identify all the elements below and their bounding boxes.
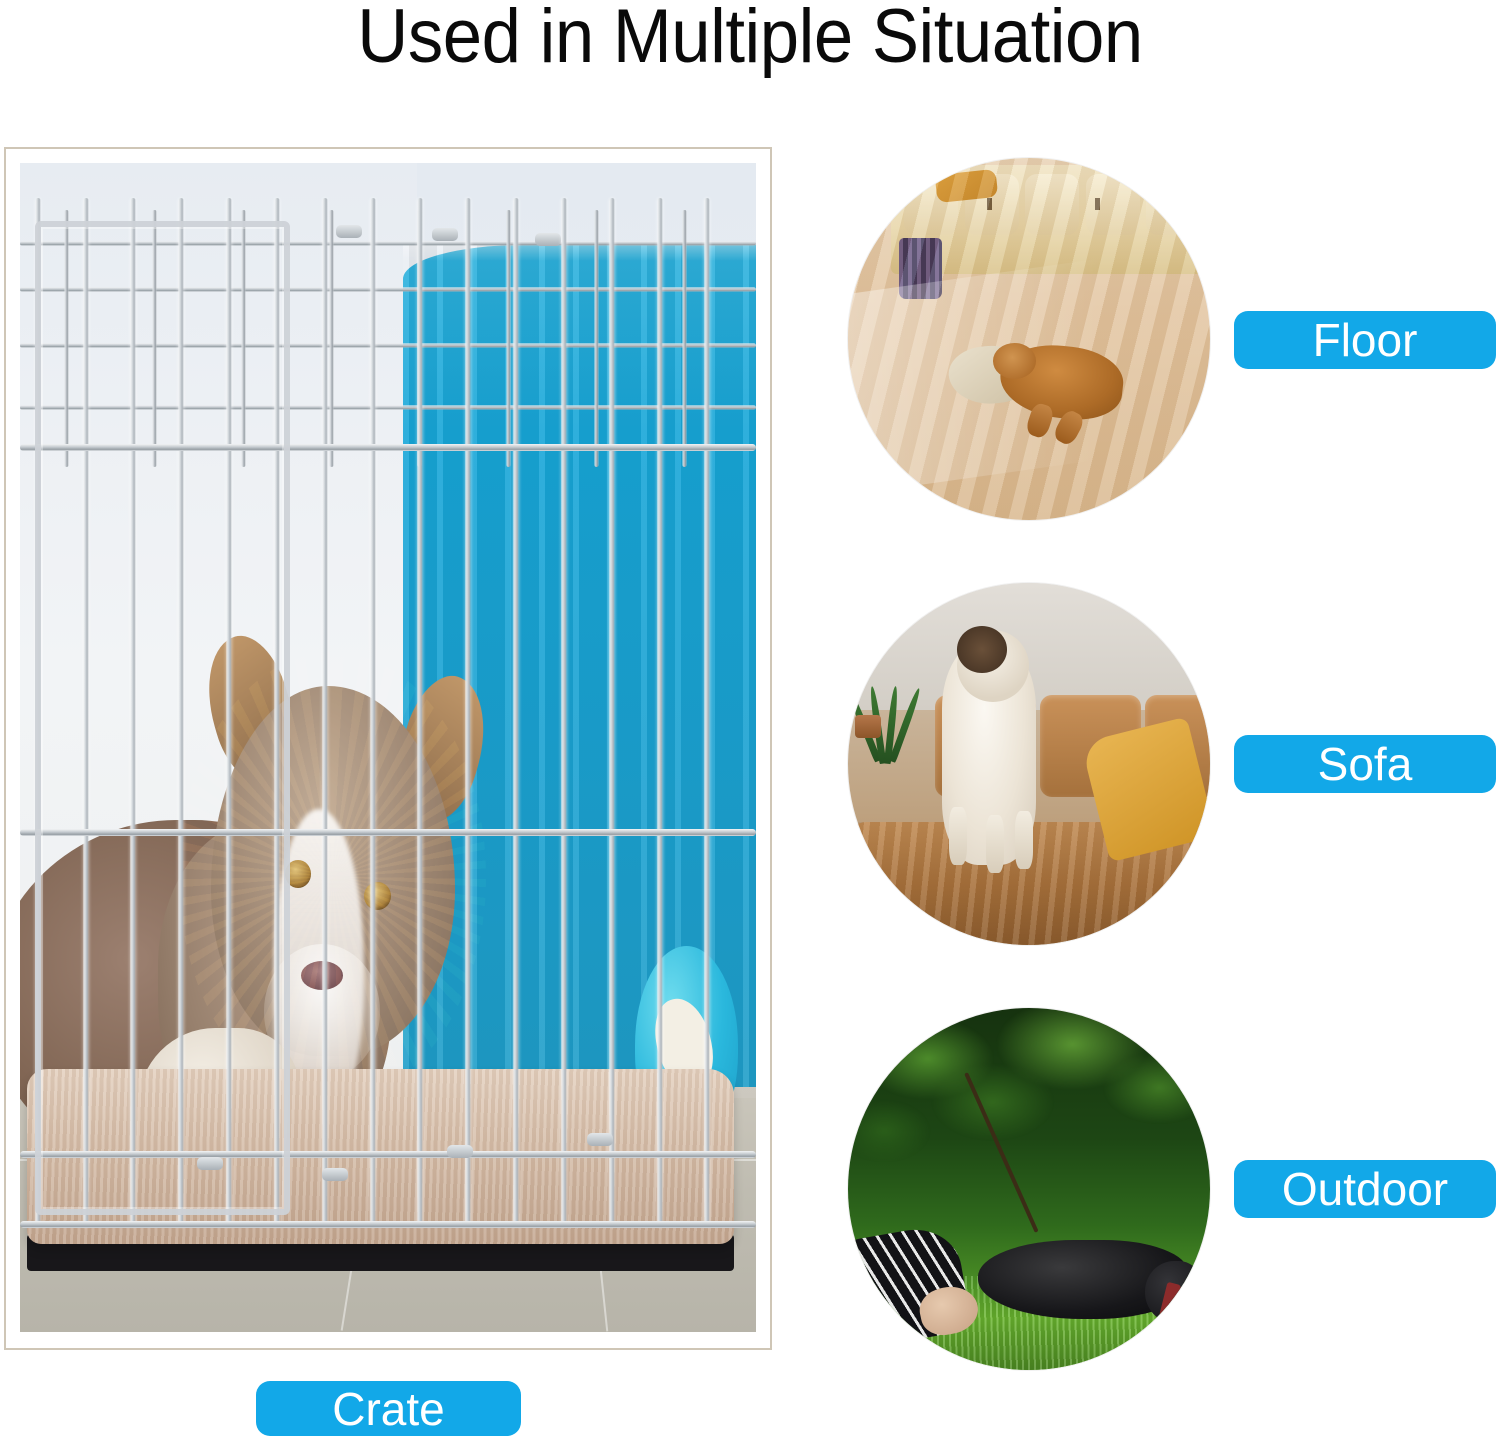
plant-pot [855,715,881,738]
badge-outdoor[interactable]: Outdoor [1234,1160,1496,1218]
badge-floor[interactable]: Floor [1234,311,1496,369]
page-title: Used in Multiple Situation [53,0,1448,76]
scene-circle-sofa [848,583,1210,945]
floor-dog-head [993,343,1036,379]
sofa-scene [848,583,1210,945]
crate-front-bars [20,163,756,1332]
floor-scene [848,158,1210,520]
badge-sofa[interactable]: Sofa [1234,735,1496,793]
house-plant [855,677,942,764]
scene-circle-floor [848,158,1210,520]
scene-circle-outdoor [848,1008,1210,1370]
crate-photo [20,163,756,1332]
crate-photo-frame [4,147,772,1350]
crate-door-panel [35,221,290,1215]
outdoor-scene [848,1008,1210,1370]
badge-crate[interactable]: Crate [256,1381,521,1436]
